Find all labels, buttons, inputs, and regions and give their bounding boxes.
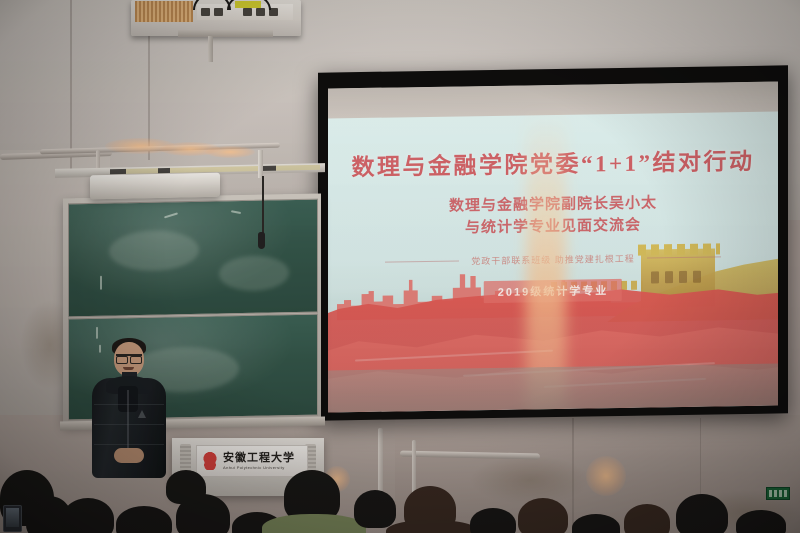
glasses-icon — [116, 354, 142, 362]
light-fixture — [90, 173, 220, 200]
university-sign: 安徽工程大学 Anhui Polytechnic University — [196, 445, 308, 477]
standing-speaker — [86, 338, 172, 478]
slide-motto: 党政干部联系班级 助推党建扎根工程 — [471, 252, 635, 268]
tower-window — [693, 271, 701, 283]
speaker-hands — [114, 448, 144, 463]
audience-head — [166, 470, 206, 504]
projector-bracket — [178, 30, 273, 37]
phone-screen — [6, 508, 19, 527]
conduit-pipe-vertical — [378, 428, 383, 498]
safety-sign — [766, 487, 790, 500]
audience-head — [62, 498, 114, 533]
university-name-en: Anhui Polytechnic University — [223, 466, 295, 470]
tower-window — [679, 271, 687, 283]
projector-vent-icon — [135, 1, 193, 22]
projector-cable — [193, 0, 231, 10]
jacket-seam — [94, 404, 164, 405]
slide-class-badge: 2019级统计学专业 — [484, 279, 622, 303]
screen-surface: 数理与金融学院党委“1+1”结对行动 数理与金融学院副院长吴小太 与统计学专业见… — [328, 81, 778, 412]
tower-window — [665, 271, 673, 283]
hanging-cord[interactable] — [262, 176, 264, 234]
speaker-mouth — [123, 367, 134, 370]
chalk-mark — [231, 210, 241, 214]
jacket-seam — [94, 424, 164, 425]
audience-phone[interactable] — [3, 505, 22, 532]
university-logo-icon — [202, 452, 218, 470]
wall-seam — [70, 0, 72, 172]
audience-shoulders — [262, 514, 366, 533]
audience-head — [354, 490, 396, 528]
projection-screen: 数理与金融学院党委“1+1”结对行动 数理与金融学院副院长吴小太 与统计学专业见… — [318, 65, 788, 420]
chalk-smudge — [219, 255, 289, 291]
ceiling-rod — [258, 150, 263, 178]
university-name-cn: 安徽工程大学 — [223, 453, 295, 464]
audience-shoulders — [386, 520, 478, 533]
blackboard-upper-panel — [68, 199, 318, 318]
projector-cable — [227, 0, 271, 10]
classroom-photo: 数理与金融学院党委“1+1”结对行动 数理与金融学院副院长吴小太 与统计学专业见… — [0, 0, 800, 533]
divider-line-right — [647, 256, 721, 258]
wall-seam — [572, 418, 574, 533]
screen-bottom-shadow — [328, 363, 778, 412]
jacket-seam — [94, 444, 164, 445]
chalk-smudge — [109, 230, 199, 272]
divider-line-left — [385, 260, 459, 262]
safety-sign-text — [769, 490, 787, 497]
projector-mount-arm — [208, 36, 213, 62]
chalk-mark — [164, 212, 178, 218]
chalk-mark — [100, 276, 102, 290]
audience-head — [470, 508, 516, 533]
tower-window — [651, 271, 659, 283]
slide-title: 数理与金融学院党委“1+1”结对行动 — [328, 141, 778, 182]
audience-head — [676, 494, 728, 533]
cord-weight[interactable] — [258, 232, 265, 249]
audience-head — [518, 498, 568, 533]
audience-head — [736, 510, 786, 533]
audience-head — [624, 504, 670, 533]
